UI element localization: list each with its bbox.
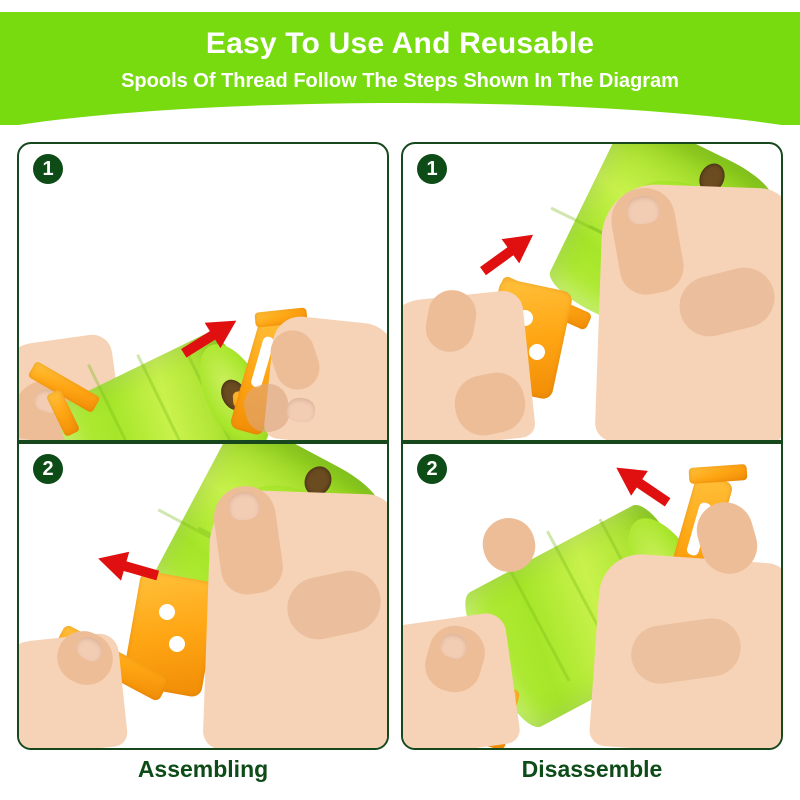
photo-disassemble-step-2 bbox=[403, 444, 781, 748]
photo-assembling-step-2 bbox=[19, 444, 387, 748]
step-badge-2: 2 bbox=[33, 454, 63, 484]
step-badge-2: 2 bbox=[417, 454, 447, 484]
direction-arrow-left bbox=[94, 544, 162, 590]
panel-bottom-left: 2 bbox=[17, 442, 389, 750]
instruction-panel-grid: 1 bbox=[17, 142, 783, 750]
panel-bottom-right: 2 bbox=[401, 442, 783, 750]
photo-disassemble-step-1 bbox=[403, 144, 781, 440]
orange-holder-hole bbox=[529, 344, 545, 360]
caption-assembling: Assembling bbox=[17, 752, 389, 786]
panel-top-right: 1 bbox=[401, 142, 783, 442]
banner-subtitle: Spools Of Thread Follow The Steps Shown … bbox=[0, 69, 800, 93]
panel-top-left: 1 bbox=[17, 142, 389, 442]
step-badge-1: 1 bbox=[417, 154, 447, 184]
orange-holder-cross-arm bbox=[689, 464, 748, 484]
banner-title: Easy To Use And Reusable bbox=[0, 26, 800, 62]
step-badge-1: 1 bbox=[33, 154, 63, 184]
caption-disassemble: Disassemble bbox=[401, 752, 783, 786]
photo-assembling-step-1 bbox=[19, 144, 387, 440]
orange-holder-hole bbox=[169, 636, 185, 652]
orange-holder-hole bbox=[159, 604, 175, 620]
banner-curve-decoration bbox=[0, 103, 800, 125]
direction-arrow-up-right bbox=[474, 223, 542, 284]
header-banner: Easy To Use And Reusable Spools Of Threa… bbox=[0, 12, 800, 125]
